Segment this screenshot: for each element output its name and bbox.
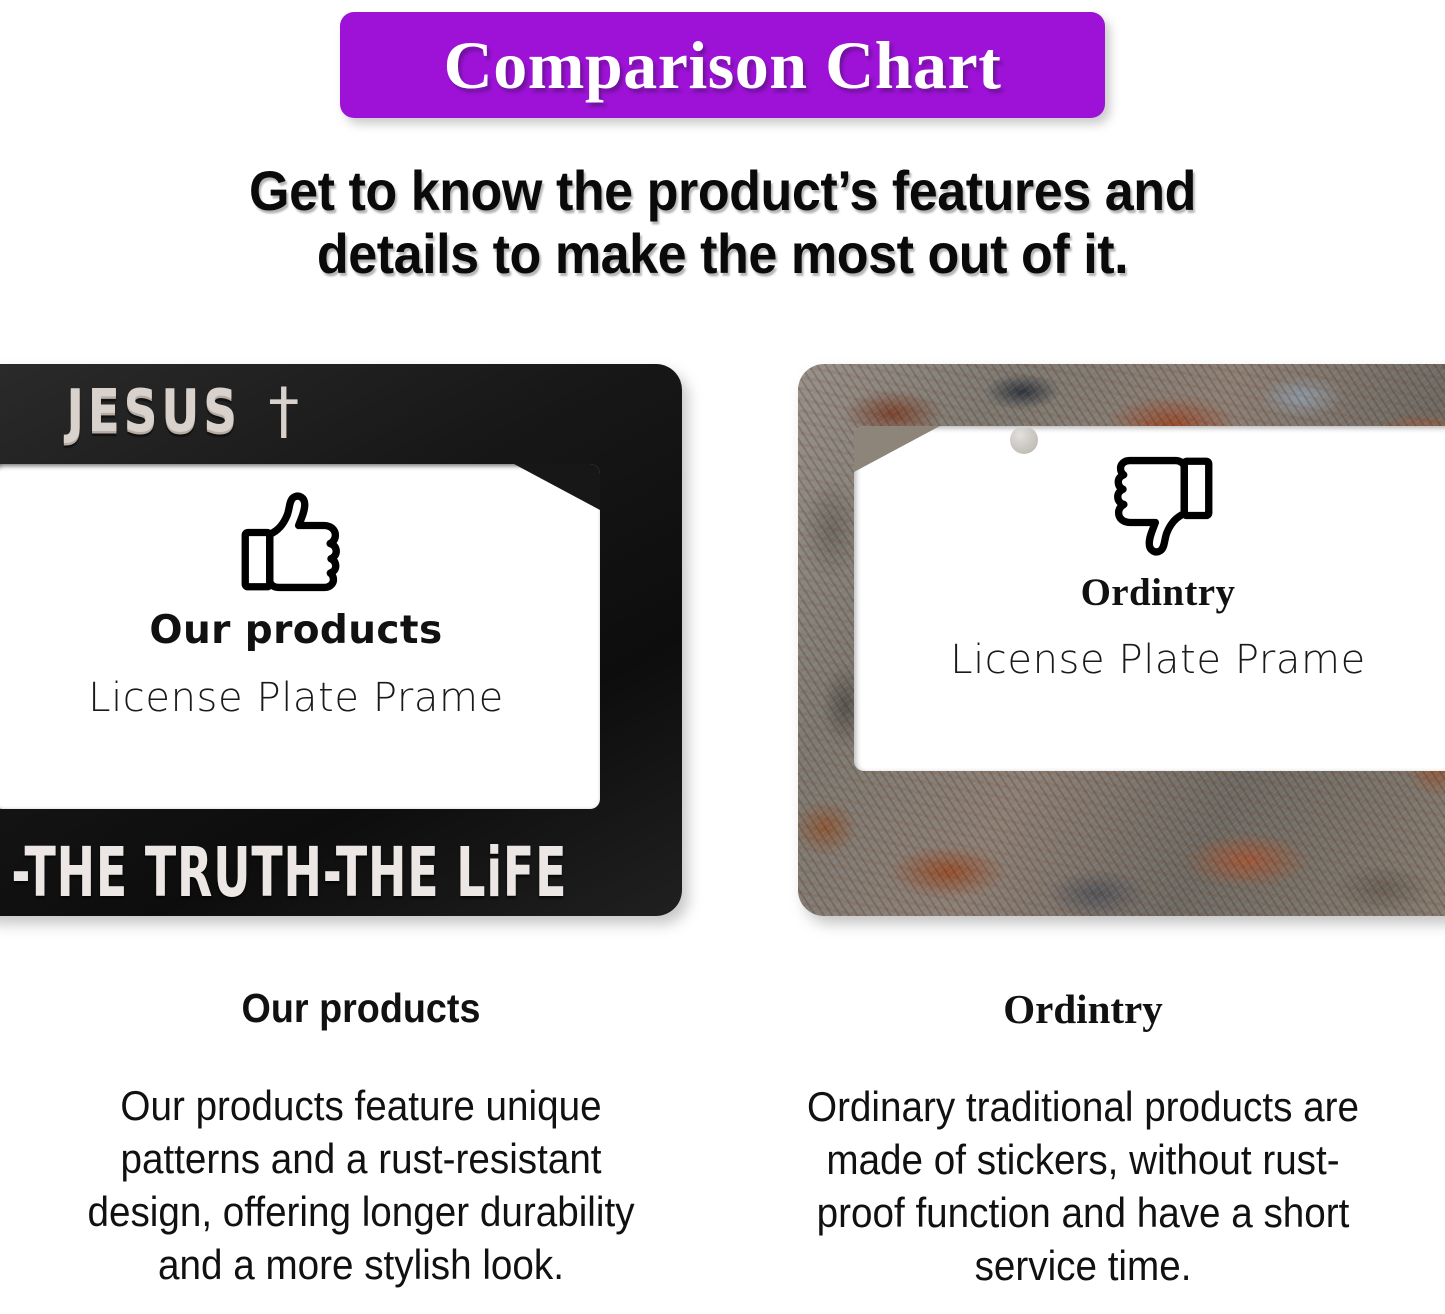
ours-window-content: Our products License Plate Prame (0, 464, 600, 809)
thumbs-down-icon (1102, 452, 1214, 558)
ours-product-label: License Plate Prame (88, 675, 504, 721)
cross-icon: † (268, 386, 299, 436)
jesus-text: JESUS (66, 377, 240, 445)
rusted-license-plate-frame: Ordintry License Plate Prame (798, 364, 1445, 916)
product-comparison-row: JESUS † Our products License Plate Prame (0, 350, 1445, 920)
subtitle-line-2: details to make the most out of it. (51, 223, 1395, 286)
ours-brand-label: Our products (149, 608, 442, 653)
ours-description-heading: Our products (68, 985, 655, 1032)
ordinary-product-label: License Plate Prame (950, 637, 1366, 683)
subtitle-line-1: Get to know the product’s features and (51, 160, 1395, 223)
ours-description-body: Our products feature unique patterns and… (68, 1080, 655, 1292)
our-product-description-column: Our products Our products feature unique… (0, 985, 722, 1314)
thumbs-up-icon (240, 490, 352, 596)
frame-top-engraving: JESUS † (0, 382, 390, 440)
ordinary-description-heading: Ordintry (764, 985, 1402, 1033)
ordinary-brand-label: Ordintry (1081, 570, 1236, 615)
ordinary-description-body: Ordinary traditional products are made o… (790, 1081, 1377, 1293)
black-license-plate-frame: JESUS † Our products License Plate Prame (0, 364, 682, 916)
comparison-chart-banner: Comparison Chart (340, 12, 1105, 118)
plate-window-ours: Our products License Plate Prame (0, 464, 600, 809)
frame-bottom-engraving: -THE TRUTH-THE LiFE (11, 834, 552, 913)
subtitle: Get to know the product’s features and d… (51, 160, 1395, 285)
description-row: Our products Our products feature unique… (0, 985, 1445, 1314)
ordinary-product-description-column: Ordintry Ordinary traditional products a… (722, 985, 1444, 1314)
ordinary-window-content: Ordintry License Plate Prame (854, 426, 1445, 771)
mounting-hole-icon (1010, 426, 1038, 454)
ordinary-product-image: Ordintry License Plate Prame (798, 364, 1445, 916)
our-product-image: JESUS † Our products License Plate Prame (0, 364, 682, 916)
page-title: Comparison Chart (444, 31, 1002, 99)
plate-window-ordinary: Ordintry License Plate Prame (854, 426, 1445, 771)
